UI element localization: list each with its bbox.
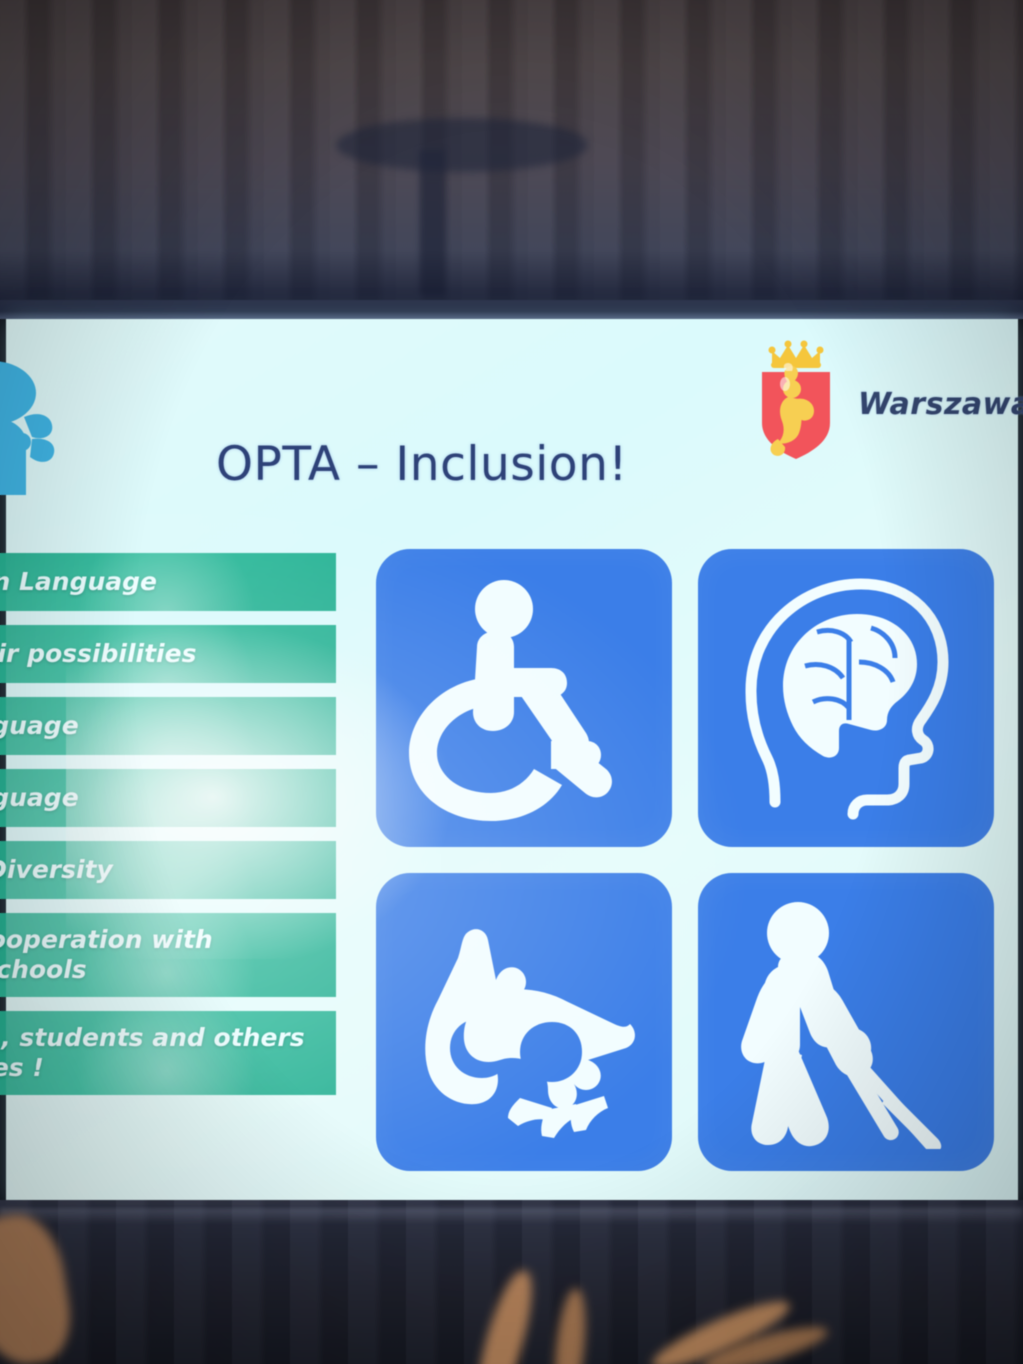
- list-item-label: Sign Language: [0, 567, 157, 598]
- warszawa-wordmark: Warszawa: [858, 387, 1023, 422]
- list-item-label: language: [0, 711, 79, 742]
- list-item-label: language: [0, 783, 79, 814]
- list-item: s + , students and others nmes !: [0, 1011, 336, 1095]
- screen-top-bezel: [0, 300, 1023, 319]
- green-bullet-list: Sign Language chair possibilities langua…: [0, 553, 336, 1109]
- opta-logo: [0, 355, 82, 505]
- head-brain-icon: [698, 549, 994, 847]
- projected-slide: OPTA – Inclusion!: [6, 319, 1018, 1205]
- slide-header: OPTA – Inclusion!: [6, 319, 1018, 541]
- list-item-label: o cooperation with l” schools: [0, 925, 213, 986]
- blind-person-cane-icon: [698, 873, 994, 1171]
- slide-title: OPTA – Inclusion!: [216, 437, 628, 492]
- list-item-label: s + , students and others nmes !: [0, 1023, 305, 1084]
- warsaw-coat-of-arms-icon: [752, 339, 840, 461]
- accessibility-icon-grid: [376, 549, 994, 1171]
- sign-language-hands-icon: [376, 873, 672, 1171]
- list-item-label: chair possibilities: [0, 639, 196, 670]
- list-item: language: [0, 769, 336, 827]
- list-item: o cooperation with l” schools: [0, 913, 336, 997]
- lamp-shadow: [336, 118, 588, 172]
- list-item: or Diversity: [0, 841, 336, 899]
- list-item-label: or Diversity: [0, 855, 113, 886]
- list-item: chair possibilities: [0, 625, 336, 683]
- warszawa-logo: Warszawa: [746, 333, 1016, 463]
- list-item: Sign Language: [0, 553, 336, 611]
- wheelchair-accessibility-icon: [376, 549, 672, 847]
- screen-bottom-edge: [0, 1208, 1023, 1224]
- photo-scene: OPTA – Inclusion!: [0, 0, 1023, 1364]
- list-item: language: [0, 697, 336, 755]
- slide-body: Sign Language chair possibilities langua…: [6, 541, 1018, 1205]
